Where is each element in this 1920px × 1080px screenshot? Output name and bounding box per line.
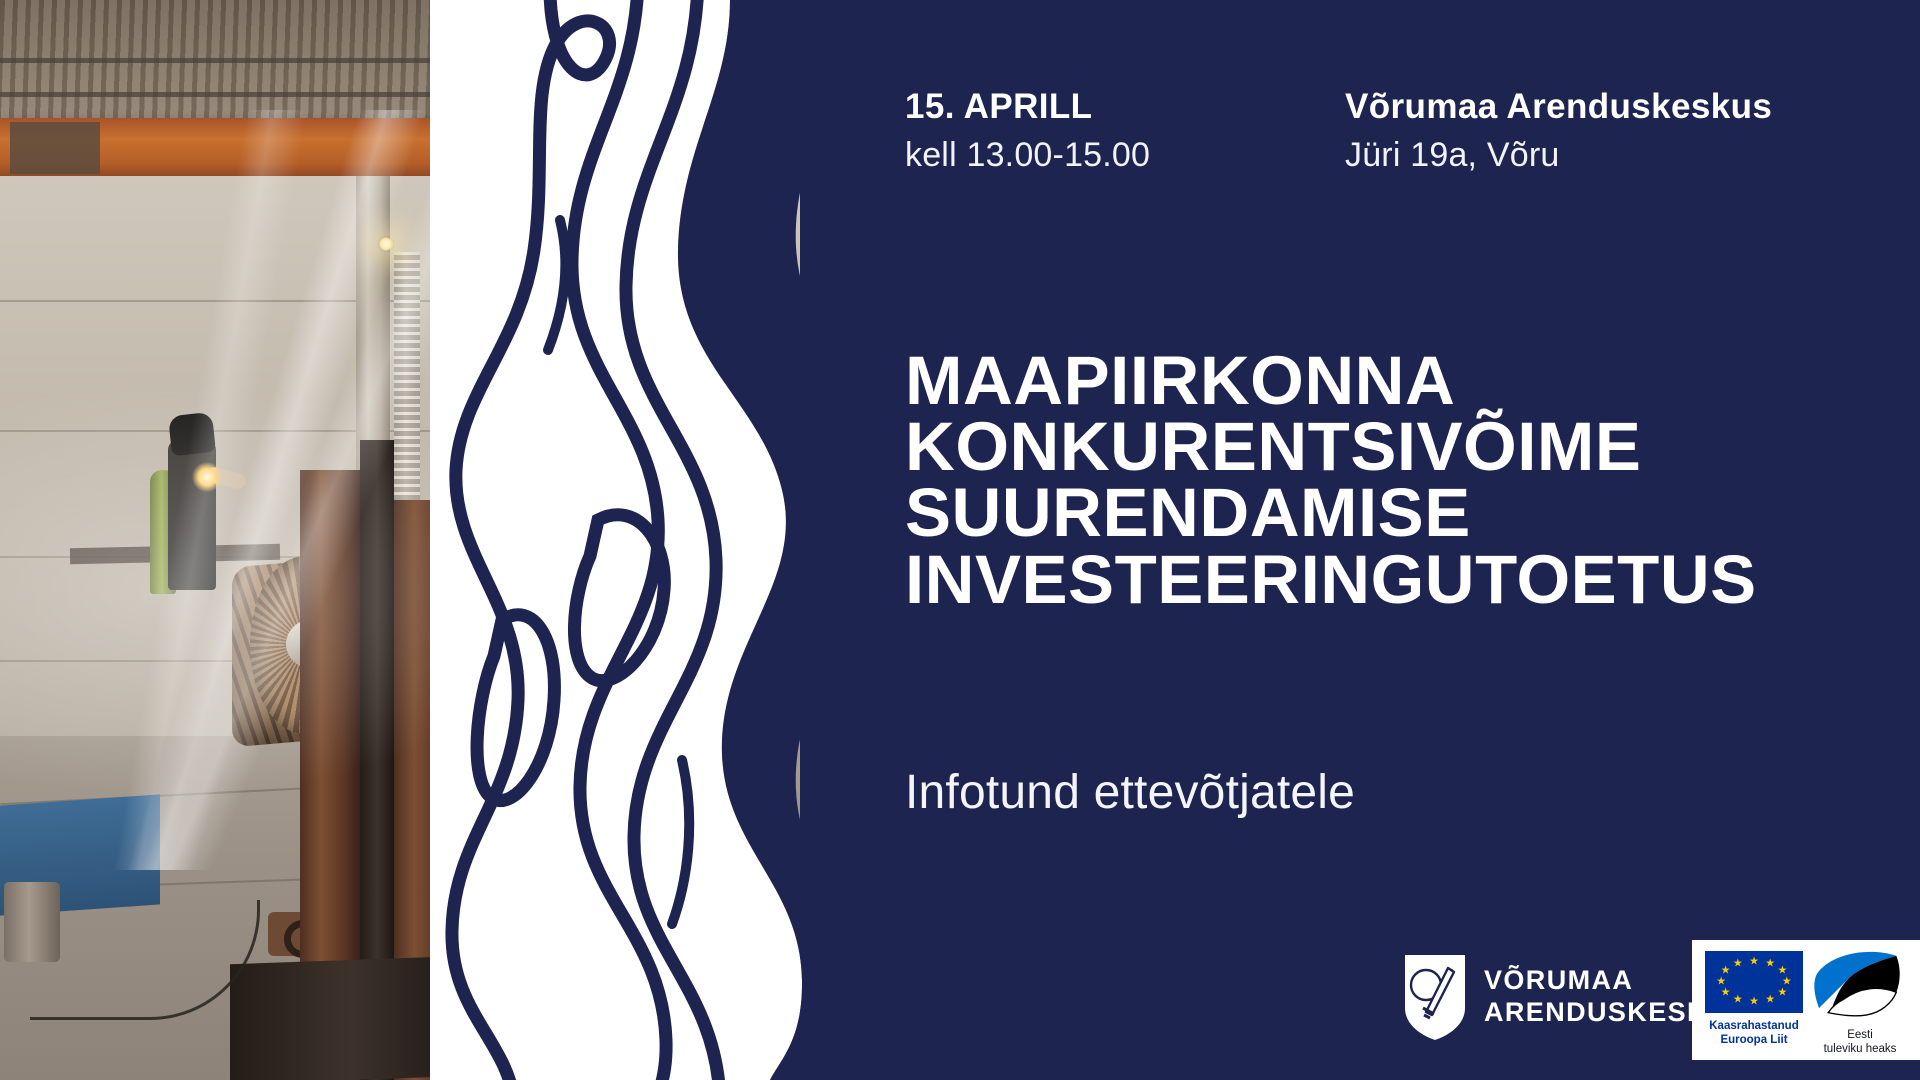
estonia-flag-swoosh-icon: [1810, 1006, 1910, 1023]
headline-line-4: INVESTEERINGUTOETUS: [905, 547, 1895, 613]
steel-base-plate: [230, 956, 470, 1080]
welding-helmet: [168, 412, 216, 456]
shield-circle-sword-icon: [1402, 952, 1468, 1042]
event-poster: KONECRANES: [0, 0, 1920, 1080]
page-title: MAAPIIRKONNA KONKURENTSIVÕIME SUURENDAMI…: [905, 348, 1895, 613]
roof-truss: [0, 58, 800, 63]
event-datetime: 15. APRILL kell 13.00-15.00: [905, 86, 1345, 177]
factory-photo: KONECRANES: [0, 0, 800, 1080]
estonia-caption-line-1: Eesti: [1847, 1029, 1873, 1041]
event-date: 15. APRILL: [905, 86, 1345, 127]
welding-spark: [192, 462, 222, 492]
photo-scene: KONECRANES: [0, 0, 800, 1080]
estonia-logo: Eesti tuleviku heaks: [1810, 949, 1910, 1056]
eu-caption-line-2: Euroopa Liit: [1720, 1034, 1787, 1046]
crane-trolley: [10, 122, 100, 174]
headline-line-3: SUURENDAMISE: [905, 480, 1895, 546]
organiser-logo-line-1: VÕRUMAA: [1484, 965, 1633, 995]
eu-funding-logo: ★ ★ ★ ★ ★ ★ ★ ★ ★ ★ ★ ★ Kaasrahast: [1702, 949, 1806, 1047]
logo-row: VÕRUMAA ARENDUSKESKUS ★ ★ ★ ★ ★ ★ ★ ★: [880, 940, 1920, 1070]
estonia-caption-line-2: tuleviku heaks: [1824, 1043, 1897, 1055]
roof-truss: [0, 92, 800, 97]
venue-name: Võrumaa Arenduskeskus: [1345, 86, 1865, 127]
event-venue: Võrumaa Arenduskeskus Jüri 19a, Võru: [1345, 86, 1865, 177]
ceiling-lamp: [378, 236, 394, 252]
skylight: [501, 8, 589, 44]
event-meta: 15. APRILL kell 13.00-15.00 Võrumaa Aren…: [905, 86, 1865, 177]
eu-funding-caption: Kaasrahastanud Euroopa Liit: [1702, 1019, 1806, 1047]
poster-content: 15. APRILL kell 13.00-15.00 Võrumaa Aren…: [880, 0, 1920, 1080]
event-time: kell 13.00-15.00: [905, 133, 1345, 177]
eu-caption-line-1: Kaasrahastanud: [1709, 1020, 1798, 1032]
page-subtitle: Infotund ettevõtjatele: [905, 765, 1355, 820]
eu-flag-icon: ★ ★ ★ ★ ★ ★ ★ ★ ★ ★ ★ ★: [1705, 951, 1803, 1013]
crane-brand-text: KONECRANES: [584, 132, 782, 161]
overhead-crane-beam: KONECRANES: [0, 118, 800, 178]
ventilation-duct: [660, 252, 686, 738]
funding-logos: ★ ★ ★ ★ ★ ★ ★ ★ ★ ★ ★ ★ Kaasrahast: [1692, 940, 1920, 1060]
estonia-caption: Eesti tuleviku heaks: [1810, 1028, 1910, 1056]
venue-address: Jüri 19a, Võru: [1345, 133, 1865, 177]
headline-line-2: KONKURENTSIVÕIME: [905, 414, 1895, 480]
headline-line-1: MAAPIIRKONNA: [905, 348, 1895, 414]
